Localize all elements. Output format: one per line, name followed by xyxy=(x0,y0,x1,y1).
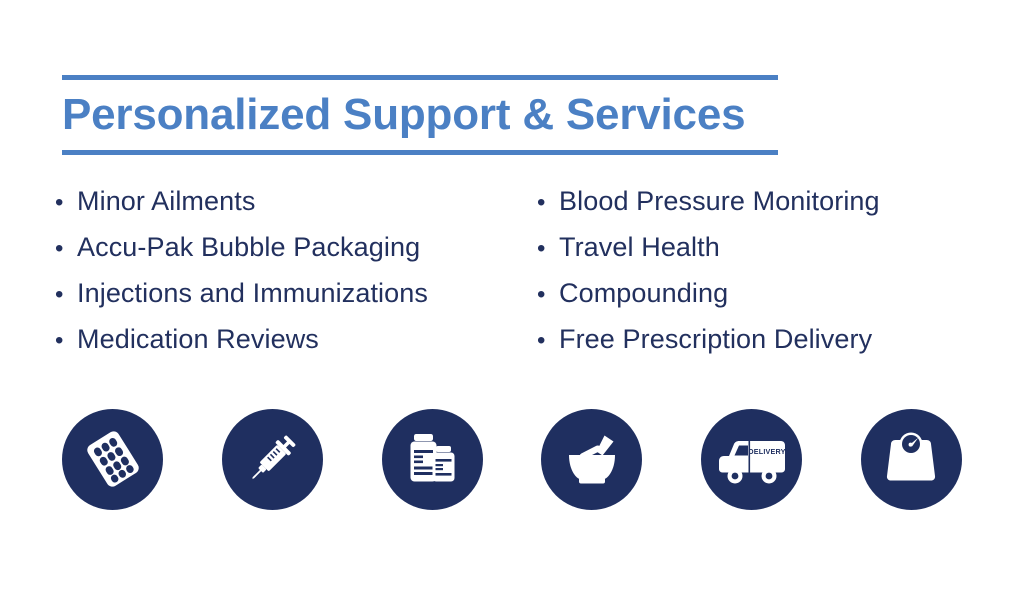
mortar-and-pestle-icon xyxy=(560,427,624,491)
services-right-column: • Blood Pressure Monitoring • Travel Hea… xyxy=(537,178,1007,362)
title-rule-bottom xyxy=(62,150,778,155)
service-icon-row: DELIVERY xyxy=(62,408,962,510)
icon-badge-pill-bottles xyxy=(382,409,483,510)
list-item-label: Medication Reviews xyxy=(77,316,319,362)
icon-badge-weight-scale xyxy=(861,409,962,510)
bullet-glyph: • xyxy=(55,272,77,318)
truck-delivery-label: DELIVERY xyxy=(748,447,785,456)
bullet-glyph: • xyxy=(55,180,77,226)
services-lists: • Minor Ailments • Accu-Pak Bubble Packa… xyxy=(0,178,1025,362)
bullet-glyph: • xyxy=(537,318,559,364)
list-item-label: Blood Pressure Monitoring xyxy=(559,178,880,224)
list-item: • Free Prescription Delivery xyxy=(537,316,1007,362)
list-item-label: Free Prescription Delivery xyxy=(559,316,872,362)
list-item: • Travel Health xyxy=(537,224,1007,270)
list-item-label: Travel Health xyxy=(559,224,720,270)
icon-badge-delivery-truck: DELIVERY xyxy=(701,409,802,510)
bullet-glyph: • xyxy=(537,226,559,272)
icon-badge-mortar-pestle xyxy=(541,409,642,510)
slide-canvas: Personalized Support & Services • Minor … xyxy=(0,0,1025,590)
syringe-icon xyxy=(241,428,303,490)
list-item: • Injections and Immunizations xyxy=(55,270,525,316)
list-item-label: Injections and Immunizations xyxy=(77,270,428,316)
list-item: • Accu-Pak Bubble Packaging xyxy=(55,224,525,270)
delivery-truck-icon: DELIVERY xyxy=(717,431,787,487)
bullet-glyph: • xyxy=(55,318,77,364)
list-item-label: Minor Ailments xyxy=(77,178,255,224)
pill-bottles-icon xyxy=(401,428,463,490)
list-item-label: Accu-Pak Bubble Packaging xyxy=(77,224,420,270)
bullet-glyph: • xyxy=(537,272,559,318)
list-item: • Medication Reviews xyxy=(55,316,525,362)
list-item: • Minor Ailments xyxy=(55,178,525,224)
list-item: • Blood Pressure Monitoring xyxy=(537,178,1007,224)
icon-badge-syringe xyxy=(222,409,323,510)
bullet-glyph: • xyxy=(55,226,77,272)
bullet-glyph: • xyxy=(537,180,559,226)
list-item-label: Compounding xyxy=(559,270,728,316)
title-block: Personalized Support & Services xyxy=(62,75,778,155)
icon-badge-blister-pack xyxy=(62,409,163,510)
list-item: • Compounding xyxy=(537,270,1007,316)
blister-pack-icon xyxy=(82,428,144,490)
services-left-column: • Minor Ailments • Accu-Pak Bubble Packa… xyxy=(55,178,525,362)
weight-scale-icon xyxy=(880,428,942,490)
page-title: Personalized Support & Services xyxy=(62,80,778,150)
